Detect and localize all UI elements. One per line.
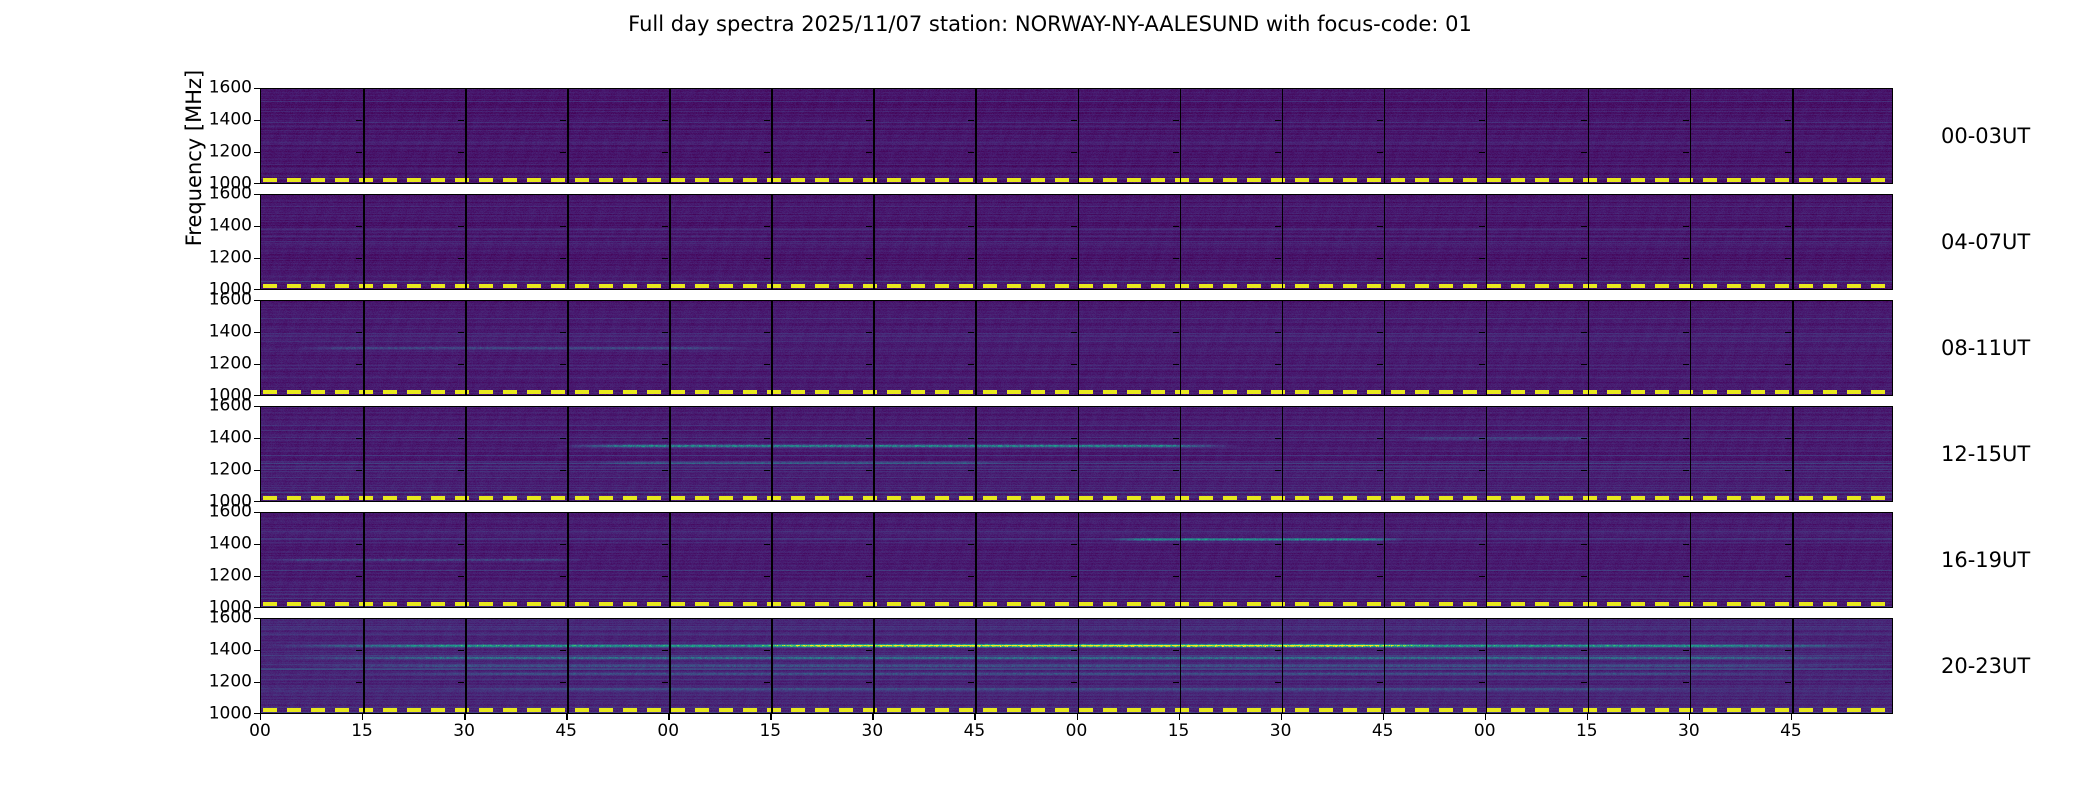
y-axis-inner-tick [1581,650,1587,651]
y-axis-tick [254,88,260,89]
y-axis-inner-tick [1173,682,1179,683]
y-axis-tick [254,183,260,184]
y-axis-inner-tick [1785,682,1791,683]
spectrogram-panel: 100012001400160004-07UT [260,194,1893,290]
y-axis-inner-tick [1275,682,1281,683]
y-axis-inner-tick [764,438,770,439]
x-axis-tick [668,714,669,720]
y-axis-inner-tick [866,650,872,651]
y-axis-inner-tick [1683,152,1689,153]
y-axis-inner-tick [560,470,566,471]
x-axis-tick [1383,714,1384,720]
figure-title: Full day spectra 2025/11/07 station: NOR… [0,12,2100,36]
y-axis-tick [254,406,260,407]
y-axis-inner-tick [866,226,872,227]
y-axis-inner-tick [1173,120,1179,121]
y-axis-inner-tick [968,438,974,439]
y-axis-inner-tick [1377,576,1383,577]
y-axis-inner-tick [1479,544,1485,545]
x-axis-tick [1077,714,1078,720]
panel-time-range-label: 08-11UT [1941,336,2030,360]
y-axis-inner-tick [1581,364,1587,365]
spectrogram-canvas [261,301,1892,395]
y-axis-tick-label: 1400 [209,218,252,235]
y-axis-inner-tick [866,544,872,545]
y-axis-inner-tick [968,226,974,227]
y-axis-inner-tick [1785,544,1791,545]
panel-time-range-label: 12-15UT [1941,442,2030,466]
y-axis-inner-tick [1479,152,1485,153]
y-axis-tick [254,576,260,577]
y-axis-inner-tick [560,544,566,545]
y-axis-inner-tick [458,682,464,683]
y-axis-tick-label: 1600 [209,610,252,627]
y-axis-inner-tick [356,682,362,683]
y-axis-inner-tick [662,544,668,545]
y-axis-tick [254,607,260,608]
x-axis-tick [464,714,465,720]
y-axis-inner-tick [356,332,362,333]
y-axis-tick-label: 1600 [209,186,252,203]
x-axis-tick-label: 45 [1372,722,1394,741]
y-axis-tick-label: 1400 [209,324,252,341]
y-axis-inner-tick [1071,152,1077,153]
y-axis-inner-tick [1581,470,1587,471]
y-axis-inner-tick [662,258,668,259]
spectrogram-panel: 100012001400160008-11UT [260,300,1893,396]
y-axis-inner-tick [662,650,668,651]
spectrogram-canvas [261,513,1892,607]
y-axis-inner-tick [1275,364,1281,365]
spectrogram-canvas [261,407,1892,501]
y-axis-inner-tick [764,650,770,651]
x-axis-tick-label: 30 [862,722,884,741]
y-axis-inner-tick [1581,258,1587,259]
x-axis-tick [1179,714,1180,720]
y-axis-inner-tick [968,120,974,121]
y-axis-tick-label: 1200 [209,250,252,267]
y-axis-inner-tick [560,152,566,153]
y-axis-inner-tick [356,364,362,365]
y-axis-tick-label: 1400 [209,536,252,553]
y-axis-tick-label: 1200 [209,356,252,373]
spectrogram-panel: 100012001400160020-23UT [260,618,1893,714]
y-axis-inner-tick [458,544,464,545]
y-axis-tick [254,300,260,301]
y-axis-inner-tick [458,120,464,121]
y-axis-inner-tick [1785,332,1791,333]
y-axis-inner-tick [764,470,770,471]
y-axis-inner-tick [1275,332,1281,333]
y-axis-tick [254,501,260,502]
y-axis-inner-tick [662,152,668,153]
y-axis-inner-tick [1173,364,1179,365]
y-axis-inner-tick [1785,438,1791,439]
y-axis-inner-tick [458,364,464,365]
y-axis-inner-tick [560,364,566,365]
y-axis-inner-tick [560,120,566,121]
y-axis-tick-label: 1400 [209,112,252,129]
y-axis-inner-tick [1377,682,1383,683]
y-axis-inner-tick [662,226,668,227]
y-axis-inner-tick [1683,120,1689,121]
y-axis-inner-tick [458,258,464,259]
y-axis-inner-tick [1683,332,1689,333]
x-axis-tick-label: 30 [453,722,475,741]
spectrogram-image-16-19ut[interactable] [260,512,1893,608]
y-axis-inner-tick [1785,120,1791,121]
y-axis-tick [254,226,260,227]
panel-time-range-label: 04-07UT [1941,230,2030,254]
x-axis-tick [1587,714,1588,720]
y-axis-inner-tick [1683,544,1689,545]
y-axis-inner-tick [1071,364,1077,365]
y-axis-tick [254,395,260,396]
x-axis-tick [1281,714,1282,720]
y-axis-inner-tick [1479,120,1485,121]
y-axis-inner-tick [1683,650,1689,651]
y-axis-inner-tick [1581,152,1587,153]
y-axis-inner-tick [560,226,566,227]
y-axis-inner-tick [968,332,974,333]
y-axis-inner-tick [1785,226,1791,227]
x-axis-tick [1689,714,1690,720]
y-axis-tick [254,120,260,121]
y-axis-inner-tick [458,332,464,333]
y-axis-inner-tick [1071,650,1077,651]
x-axis-tick [566,714,567,720]
y-axis-inner-tick [866,258,872,259]
y-axis-tick [254,289,260,290]
x-axis-tick [362,714,363,720]
y-axis-inner-tick [356,650,362,651]
y-axis-tick [254,152,260,153]
y-axis-inner-tick [662,364,668,365]
y-axis-inner-tick [1173,650,1179,651]
y-axis-inner-tick [968,576,974,577]
x-axis-tick-label: 30 [1270,722,1292,741]
y-axis-inner-tick [866,332,872,333]
y-axis-inner-tick [1785,470,1791,471]
x-axis-tick-label: 45 [964,722,986,741]
y-axis-inner-tick [866,470,872,471]
spectrogram-image-08-11ut[interactable] [260,300,1893,396]
y-axis-inner-tick [1683,364,1689,365]
y-axis-inner-tick [1071,470,1077,471]
y-axis-inner-tick [1377,470,1383,471]
y-axis-inner-tick [968,682,974,683]
y-axis-tick-label: 1000 [209,706,252,723]
y-axis-inner-tick [1581,544,1587,545]
y-axis-inner-tick [764,364,770,365]
y-axis-inner-tick [1377,364,1383,365]
y-axis-inner-tick [1275,650,1281,651]
y-axis-inner-tick [1071,332,1077,333]
y-axis-tick-label: 1200 [209,144,252,161]
x-axis-tick-label: 45 [1780,722,1802,741]
y-axis-inner-tick [1173,226,1179,227]
panel-time-range-label: 20-23UT [1941,654,2030,678]
y-axis-inner-tick [1581,332,1587,333]
y-axis-inner-tick [1275,226,1281,227]
y-axis-inner-tick [764,120,770,121]
y-axis-tick-label: 1600 [209,80,252,97]
y-axis-inner-tick [1479,438,1485,439]
spectrogram-canvas [261,195,1892,289]
y-axis-tick-label: 1200 [209,462,252,479]
y-axis-inner-tick [560,332,566,333]
y-axis-inner-tick [1479,650,1485,651]
y-axis-inner-tick [1377,258,1383,259]
x-axis-tick-label: 15 [1576,722,1598,741]
y-axis-inner-tick [764,332,770,333]
y-axis-inner-tick [662,438,668,439]
y-axis-inner-tick [1479,470,1485,471]
y-axis-inner-tick [356,258,362,259]
y-axis-tick-label: 1400 [209,430,252,447]
spectrogram-panel: 100012001400160016-19UT [260,512,1893,608]
y-axis-inner-tick [1479,682,1485,683]
y-axis-tick [254,332,260,333]
y-axis-inner-tick [1173,438,1179,439]
y-axis-inner-tick [1479,258,1485,259]
y-axis-inner-tick [1173,258,1179,259]
y-axis-inner-tick [1275,258,1281,259]
y-axis-inner-tick [1275,576,1281,577]
y-axis-inner-tick [560,258,566,259]
spectrogram-image-00-03ut[interactable] [260,88,1893,184]
y-axis-inner-tick [458,650,464,651]
y-axis-inner-tick [356,470,362,471]
spectrogram-canvas [261,619,1892,713]
y-axis-inner-tick [1479,576,1485,577]
y-axis-inner-tick [1173,470,1179,471]
y-axis-inner-tick [1785,364,1791,365]
y-axis-inner-tick [1377,152,1383,153]
x-axis-tick-label: 00 [1066,722,1088,741]
y-axis-inner-tick [764,682,770,683]
y-axis-inner-tick [1071,576,1077,577]
y-axis-tick [254,364,260,365]
y-axis-inner-tick [662,576,668,577]
y-axis-inner-tick [458,438,464,439]
y-axis-inner-tick [968,470,974,471]
panel-time-range-label: 00-03UT [1941,124,2030,148]
x-axis-tick-label: 45 [555,722,577,741]
panel-time-range-label: 16-19UT [1941,548,2030,572]
y-axis-inner-tick [1173,576,1179,577]
y-axis-inner-tick [866,682,872,683]
y-axis-inner-tick [866,120,872,121]
x-axis-tick [974,714,975,720]
y-axis-inner-tick [1377,120,1383,121]
y-axis-inner-tick [866,438,872,439]
y-axis-inner-tick [1479,226,1485,227]
x-axis-tick [872,714,873,720]
y-axis-inner-tick [1683,682,1689,683]
x-axis-tick [1791,714,1792,720]
y-axis-inner-tick [356,544,362,545]
y-axis-inner-tick [764,258,770,259]
y-axis-inner-tick [1071,438,1077,439]
y-axis-inner-tick [968,258,974,259]
y-axis-inner-tick [1377,226,1383,227]
y-axis-inner-tick [1683,226,1689,227]
y-axis-inner-tick [1785,258,1791,259]
x-axis-tick-label: 15 [1168,722,1190,741]
y-axis-inner-tick [1377,544,1383,545]
y-axis-inner-tick [560,682,566,683]
y-axis-tick [254,682,260,683]
y-axis-inner-tick [458,226,464,227]
y-axis-inner-tick [356,120,362,121]
x-axis-tick-label: 15 [351,722,373,741]
y-axis-inner-tick [764,226,770,227]
y-axis-inner-tick [458,576,464,577]
y-axis-inner-tick [560,438,566,439]
y-axis-inner-tick [1581,682,1587,683]
y-axis-inner-tick [356,226,362,227]
y-axis-inner-tick [1071,682,1077,683]
y-axis-inner-tick [1275,470,1281,471]
y-axis-inner-tick [1479,332,1485,333]
y-axis-inner-tick [662,332,668,333]
y-axis-inner-tick [1377,332,1383,333]
y-axis-inner-tick [866,364,872,365]
y-axis-tick-label: 1600 [209,292,252,309]
y-axis-inner-tick [764,152,770,153]
y-axis-tick [254,544,260,545]
y-axis-tick-label: 1200 [209,674,252,691]
y-axis-tick-label: 1200 [209,568,252,585]
x-axis-tick-label: 00 [657,722,679,741]
x-axis-tick-label: 30 [1678,722,1700,741]
spectrogram-canvas [261,89,1892,183]
y-axis-inner-tick [1377,438,1383,439]
x-axis-tick-label: 15 [759,722,781,741]
y-axis-inner-tick [1581,226,1587,227]
spectrogram-panel: 100012001400160012-15UT [260,406,1893,502]
x-axis-tick [260,714,261,720]
y-axis-inner-tick [1071,120,1077,121]
y-axis-inner-tick [968,152,974,153]
x-axis-tick-label: 00 [249,722,271,741]
x-axis: 00153045001530450015304500153045 [260,714,1893,754]
y-axis-inner-tick [968,544,974,545]
y-axis-inner-tick [764,544,770,545]
y-axis-inner-tick [1683,576,1689,577]
spectrogram-panel-stack: 100012001400160000-03UT10001200140016000… [260,88,1893,714]
y-axis-inner-tick [1173,544,1179,545]
x-axis-tick-label: 00 [1474,722,1496,741]
y-axis-inner-tick [866,576,872,577]
y-axis-inner-tick [866,152,872,153]
y-axis-inner-tick [968,650,974,651]
y-axis-tick-label: 1600 [209,504,252,521]
y-axis-inner-tick [662,470,668,471]
y-axis-inner-tick [1581,120,1587,121]
y-axis-inner-tick [1377,650,1383,651]
y-axis-inner-tick [1683,258,1689,259]
y-axis-inner-tick [356,438,362,439]
y-axis-inner-tick [560,650,566,651]
y-axis-inner-tick [1683,470,1689,471]
y-axis-inner-tick [1173,332,1179,333]
y-axis-inner-tick [1071,258,1077,259]
y-axis-tick [254,470,260,471]
y-axis-inner-tick [458,470,464,471]
y-axis-inner-tick [560,576,566,577]
x-axis-tick [1485,714,1486,720]
y-axis-inner-tick [356,576,362,577]
y-axis-inner-tick [1581,576,1587,577]
y-axis-inner-tick [1683,438,1689,439]
spectrogram-image-20-23ut[interactable] [260,618,1893,714]
y-axis-tick [254,512,260,513]
y-axis-inner-tick [1275,438,1281,439]
y-axis-inner-tick [662,682,668,683]
y-axis-inner-tick [1071,544,1077,545]
y-axis-inner-tick [1785,152,1791,153]
y-axis-inner-tick [968,364,974,365]
spectrogram-panel: 100012001400160000-03UT [260,88,1893,184]
y-axis-tick [254,438,260,439]
y-axis-tick [254,618,260,619]
x-axis-tick [770,714,771,720]
y-axis-inner-tick [764,576,770,577]
y-axis-inner-tick [1275,544,1281,545]
y-axis-label: Frequency [MHz] [182,28,206,288]
y-axis-tick [254,194,260,195]
y-axis-inner-tick [1275,152,1281,153]
y-axis-inner-tick [1581,438,1587,439]
spectrogram-image-12-15ut[interactable] [260,406,1893,502]
y-axis-tick-label: 1600 [209,398,252,415]
y-axis-inner-tick [1785,650,1791,651]
y-axis-inner-tick [1071,226,1077,227]
y-axis-inner-tick [662,120,668,121]
spectrogram-image-04-07ut[interactable] [260,194,1893,290]
y-axis-inner-tick [458,152,464,153]
y-axis-tick [254,650,260,651]
y-axis-inner-tick [1275,120,1281,121]
y-axis-tick-label: 1400 [209,642,252,659]
y-axis-tick [254,258,260,259]
y-axis-inner-tick [356,152,362,153]
y-axis-inner-tick [1479,364,1485,365]
y-axis-inner-tick [1785,576,1791,577]
y-axis-inner-tick [1173,152,1179,153]
